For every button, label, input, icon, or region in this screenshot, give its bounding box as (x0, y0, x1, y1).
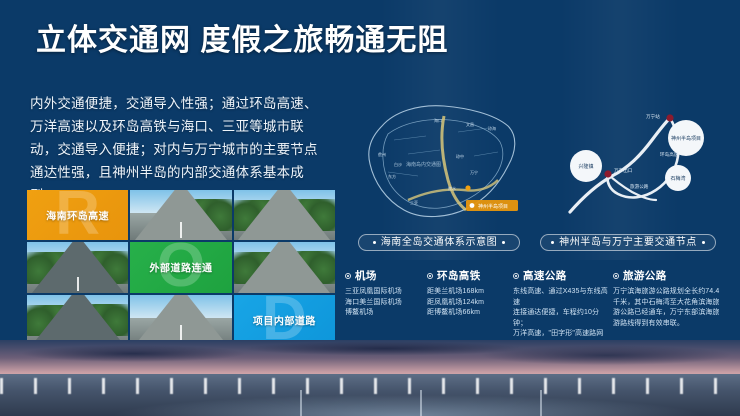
info-column-title: 旅游公路 (623, 268, 667, 283)
svg-text:万宁站: 万宁站 (646, 113, 660, 120)
info-column-body: 三亚凤凰国际机场 海口美兰国际机场 博鳌机场 (345, 287, 423, 319)
info-column-body: 距美兰机场168km 距凤凰机场124km 距博鳌机场66km (427, 287, 509, 319)
info-column-highspeed-rail: 环岛高铁 距美兰机场168km 距凤凰机场124km 距博鳌机场66km (427, 268, 509, 350)
info-column-header: 机场 (345, 268, 423, 283)
info-column-airport: 机场 三亚凤凰国际机场 海口美兰国际机场 博鳌机场 (345, 268, 423, 350)
info-line: 三亚凤凰国际机场 (345, 287, 423, 298)
collage-tile-label: 项目内部道路 (234, 312, 335, 327)
caption-dot-right (502, 241, 505, 244)
road-photo-collage: R 海南环岛高速 O 外部道路连通 (27, 190, 335, 345)
info-column-body: 万宁滨海旅游公路规划全长约74.4千米，其中石梅湾至大花角滨海旅游公路已经通车，… (613, 287, 723, 329)
caption-text: 海南全岛交通体系示意图 (381, 235, 498, 250)
svg-text:儋州: 儋州 (378, 151, 386, 157)
bullet-icon (613, 273, 619, 279)
info-line: 连接通达便捷，车程约10分钟； (513, 308, 609, 329)
hainan-island-map: 文昌 琼海 海口 儋州 东方 三亚 琼中 万宁 陵水 白沙 海南岛内交通图 神州… (348, 96, 526, 230)
bullet-icon (427, 273, 433, 279)
shenzhou-peninsula-map: 兴隆镇 神州半岛项目 石梅湾 万宁站 万宁出口 环岛高速 旅游公路 (540, 100, 720, 228)
collage-tile-highway: R 海南环岛高速 (27, 190, 128, 240)
info-line: 距博鳌机场66km (427, 308, 509, 319)
bullet-icon (345, 273, 351, 279)
svg-text:琼中: 琼中 (456, 153, 464, 159)
info-column-header: 高速公路 (513, 268, 609, 283)
info-column-header: 环岛高铁 (427, 268, 509, 283)
info-line: 东线高速、通过X435与东线高速 (513, 287, 609, 308)
svg-text:文昌: 文昌 (466, 121, 474, 127)
collage-tile-label: 外部道路连通 (130, 260, 231, 275)
page-title: 立体交通网 度假之旅畅通无阻 (36, 22, 448, 60)
road-photo-1 (130, 190, 231, 240)
svg-text:东方: 东方 (388, 173, 396, 179)
svg-text:石梅湾: 石梅湾 (670, 175, 685, 182)
svg-text:万宁出口: 万宁出口 (614, 167, 633, 174)
caption-dot-right (702, 241, 705, 244)
info-column-title: 环岛高铁 (437, 268, 481, 283)
collage-tile-external-road: O 外部道路连通 (130, 242, 231, 292)
road-photo-6 (130, 295, 231, 345)
road-photo-3 (27, 242, 128, 292)
collage-tile-internal-road: D 项目内部道路 (234, 295, 335, 345)
collage-tile-label: 海南环岛高速 (27, 208, 128, 223)
svg-text:旅游公路: 旅游公路 (630, 183, 649, 190)
caption-text: 神州半岛与万宁主要交通节点 (559, 235, 697, 250)
info-line: 距美兰机场168km (427, 287, 509, 298)
svg-text:海口: 海口 (434, 117, 442, 123)
slide-canvas: 立体交通网 度假之旅畅通无阻 内外交通便捷，交通导入性强；通过环岛高速、万洋高速… (0, 0, 740, 416)
svg-text:白沙: 白沙 (394, 161, 402, 167)
hainan-map-caption: 海南全岛交通体系示意图 (358, 234, 520, 251)
svg-text:神州半岛项目: 神州半岛项目 (671, 135, 701, 142)
city-highway-photo (0, 340, 740, 416)
svg-text:海南岛内交通图: 海南岛内交通图 (406, 161, 441, 168)
road-photo-5 (27, 295, 128, 345)
info-column-title: 高速公路 (523, 268, 567, 283)
svg-text:三亚: 三亚 (410, 200, 418, 205)
shenzhou-map-caption: 神州半岛与万宁主要交通节点 (540, 234, 716, 251)
svg-text:万宁: 万宁 (470, 169, 478, 175)
svg-text:兴隆镇: 兴隆镇 (578, 163, 593, 170)
svg-text:琼海: 琼海 (488, 125, 496, 131)
info-column-title: 机场 (355, 268, 377, 283)
info-line: 海口美兰国际机场 (345, 298, 423, 309)
svg-text:神州半岛项目: 神州半岛项目 (478, 203, 508, 210)
cloud-layer (0, 340, 740, 374)
caption-dot-left (551, 241, 554, 244)
bullet-icon (513, 273, 519, 279)
caption-dot-left (373, 241, 376, 244)
road-photo-2 (234, 190, 335, 240)
street-lamps (0, 378, 740, 394)
info-line: 距凤凰机场124km (427, 298, 509, 309)
info-line: 万宁滨海旅游公路规划全长约74.4千米，其中石梅湾至大花角滨海旅游公路已经通车，… (613, 287, 723, 329)
svg-text:环岛高速: 环岛高速 (660, 151, 679, 158)
info-column-expressway: 高速公路 东线高速、通过X435与东线高速 连接通达便捷，车程约10分钟； 万洋… (513, 268, 609, 350)
info-column-header: 旅游公路 (613, 268, 723, 283)
info-column-tourism-road: 旅游公路 万宁滨海旅游公路规划全长约74.4千米，其中石梅湾至大花角滨海旅游公路… (613, 268, 723, 350)
transport-info-columns: 机场 三亚凤凰国际机场 海口美兰国际机场 博鳌机场 环岛高铁 距美兰机场168k… (345, 268, 725, 340)
road-photo-4 (234, 242, 335, 292)
info-line: 博鳌机场 (345, 308, 423, 319)
svg-text:陵水: 陵水 (448, 185, 456, 191)
